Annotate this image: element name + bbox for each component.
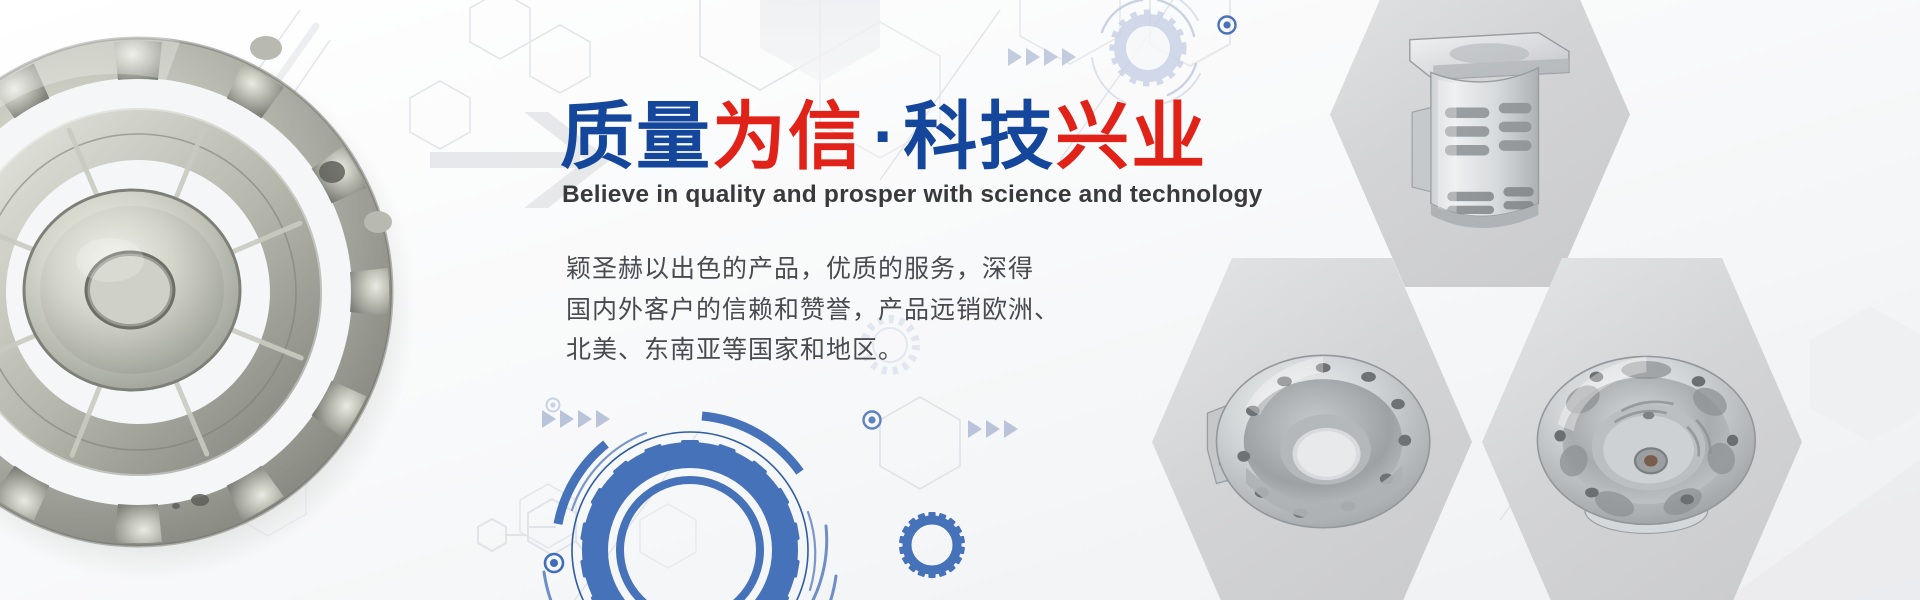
hub-cover-casting-image (1517, 298, 1767, 585)
description-line-3: 北美、东南亚等国家和地区。 (566, 330, 1086, 371)
description-line-1: 颖圣赫以出色的产品，优质的服务，深得 (566, 249, 1086, 290)
cast-metal-wheel-hub-photo (0, 0, 440, 600)
headline-separator: · (864, 105, 903, 170)
page-subtitle: Believe in quality and prosper with scie… (562, 181, 1250, 209)
hero-banner: 质量为信·科技兴业 Believe in quality and prosper… (0, 0, 1920, 600)
flanged-housing-casting-image (1187, 298, 1437, 585)
page-title: 质量为信·科技兴业 (560, 100, 1250, 175)
headline-segment-blue-1: 质量 (560, 94, 712, 180)
description-line-2: 国内外客户的信赖和赞誉，产品远销欧洲、 (566, 290, 1086, 331)
headline-segment-red-2: 兴业 (1055, 94, 1207, 180)
headline-segment-red-1: 为信 (712, 94, 864, 180)
banner-description: 颖圣赫以出色的产品，优质的服务，深得 国内外客户的信赖和赞誉，产品远销欧洲、 北… (566, 249, 1086, 371)
cylinder-housing-casting-image (1363, 0, 1597, 249)
banner-copy: 质量为信·科技兴业 Believe in quality and prosper… (560, 100, 1250, 371)
headline-segment-blue-2: 科技 (903, 94, 1055, 180)
